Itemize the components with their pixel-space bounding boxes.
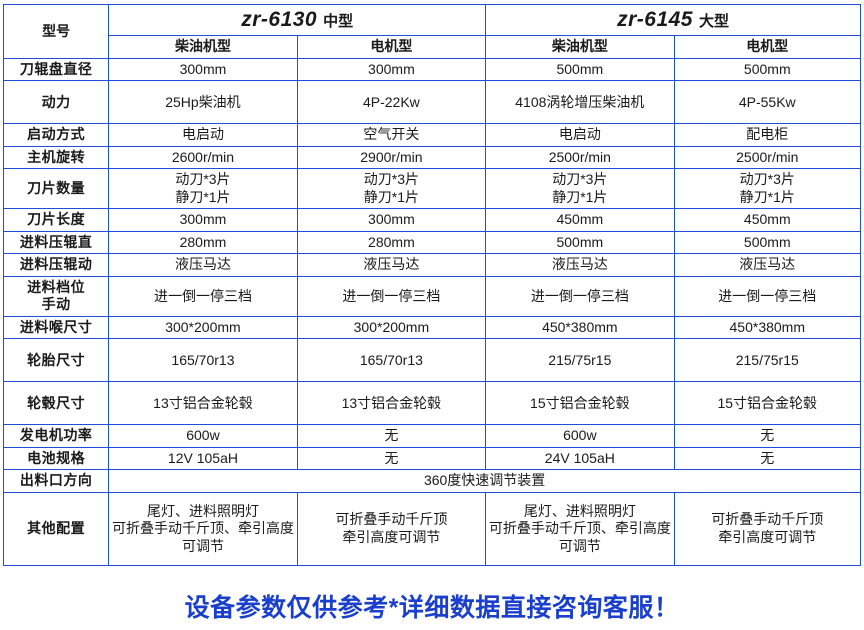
row-cell: 进一倒一停三档 xyxy=(486,276,674,316)
row-cell: 4P-55Kw xyxy=(674,81,860,124)
row-cell: 2500r/min xyxy=(674,146,860,169)
row-label: 进料喉尺寸 xyxy=(4,316,109,339)
model-header-1: zr-6130中型 xyxy=(109,5,486,36)
row-cell: 13寸铝合金轮毂 xyxy=(109,382,297,425)
spec-sheet: 型号 zr-6130中型 zr-6145大型 柴油机型 电机型 柴油机型 电机型… xyxy=(0,4,864,630)
row-cell: 300mm xyxy=(297,58,485,81)
row-cell: 进一倒一停三档 xyxy=(674,276,860,316)
row-cell: 450mm xyxy=(486,209,674,232)
row-cell: 尾灯、进料照明灯可折叠手动千斤顶、牵引高度可调节 xyxy=(109,492,297,565)
row-cell: 25Hp柴油机 xyxy=(109,81,297,124)
row-cell: 4P-22Kw xyxy=(297,81,485,124)
row-cell: 12V 105aH xyxy=(109,447,297,470)
table-row: 刀片长度 300mm 300mm 450mm 450mm xyxy=(4,209,861,232)
table-row-outlet: 出料口方向 360度快速调节装置 xyxy=(4,470,861,493)
row-cell: 24V 105aH xyxy=(486,447,674,470)
row-label: 轮胎尺寸 xyxy=(4,339,109,382)
row-label: 进料压辊动 xyxy=(4,254,109,277)
row-cell: 300mm xyxy=(297,209,485,232)
row-label: 刀片长度 xyxy=(4,209,109,232)
row-cell: 电启动 xyxy=(486,124,674,147)
row-cell: 动刀*3片静刀*1片 xyxy=(109,169,297,209)
row-label: 轮毂尺寸 xyxy=(4,382,109,425)
row-cell: 空气开关 xyxy=(297,124,485,147)
row-cell: 无 xyxy=(674,447,860,470)
row-cell: 300*200mm xyxy=(297,316,485,339)
row-cell: 500mm xyxy=(486,231,674,254)
row-cell: 2900r/min xyxy=(297,146,485,169)
row-label: 刀片数量 xyxy=(4,169,109,209)
table-row: 进料压辊直 280mm 280mm 500mm 500mm xyxy=(4,231,861,254)
table-row: 轮毂尺寸 13寸铝合金轮毂 13寸铝合金轮毂 15寸铝合金轮毂 15寸铝合金轮毂 xyxy=(4,382,861,425)
table-row: 刀片数量 动刀*3片静刀*1片 动刀*3片静刀*1片 动刀*3片静刀*1片 动刀… xyxy=(4,169,861,209)
row-cell: 500mm xyxy=(674,231,860,254)
row-cell: 配电柜 xyxy=(674,124,860,147)
corner-label: 型号 xyxy=(4,5,109,59)
row-cell: 液压马达 xyxy=(674,254,860,277)
row-cell: 500mm xyxy=(674,58,860,81)
row-cell: 450*380mm xyxy=(674,316,860,339)
table-row: 电池规格 12V 105aH 无 24V 105aH 无 xyxy=(4,447,861,470)
row-cell: 无 xyxy=(297,425,485,448)
row-cell: 无 xyxy=(674,425,860,448)
table-row: 主机旋转 2600r/min 2900r/min 2500r/min 2500r… xyxy=(4,146,861,169)
row-cell: 300*200mm xyxy=(109,316,297,339)
table-row: 刀辊盘直径 300mm 300mm 500mm 500mm xyxy=(4,58,861,81)
row-cell: 215/75r15 xyxy=(674,339,860,382)
row-cell: 2600r/min xyxy=(109,146,297,169)
model-code-1: zr-6130 xyxy=(241,8,317,31)
power-type-1: 柴油机型 xyxy=(109,36,297,59)
row-label: 进料压辊直 xyxy=(4,231,109,254)
row-cell: 可折叠手动千斤顶牵引高度可调节 xyxy=(674,492,860,565)
row-cell: 尾灯、进料照明灯可折叠手动千斤顶、牵引高度可调节 xyxy=(486,492,674,565)
row-cell: 300mm xyxy=(109,58,297,81)
row-label: 启动方式 xyxy=(4,124,109,147)
row-cell: 450mm xyxy=(674,209,860,232)
row-cell: 液压马达 xyxy=(297,254,485,277)
row-cell: 2500r/min xyxy=(486,146,674,169)
row-cell: 360度快速调节装置 xyxy=(109,470,861,493)
spec-table: 型号 zr-6130中型 zr-6145大型 柴油机型 电机型 柴油机型 电机型… xyxy=(3,4,861,566)
row-cell: 电启动 xyxy=(109,124,297,147)
row-cell: 450*380mm xyxy=(486,316,674,339)
row-cell: 动刀*3片静刀*1片 xyxy=(674,169,860,209)
row-label: 动力 xyxy=(4,81,109,124)
row-cell: 280mm xyxy=(297,231,485,254)
row-cell: 215/75r15 xyxy=(486,339,674,382)
row-cell: 4108涡轮增压柴油机 xyxy=(486,81,674,124)
row-cell: 165/70r13 xyxy=(297,339,485,382)
row-cell: 动刀*3片静刀*1片 xyxy=(486,169,674,209)
row-cell: 无 xyxy=(297,447,485,470)
row-cell: 165/70r13 xyxy=(109,339,297,382)
row-cell: 600w xyxy=(109,425,297,448)
table-row: 动力 25Hp柴油机 4P-22Kw 4108涡轮增压柴油机 4P-55Kw xyxy=(4,81,861,124)
power-type-4: 电机型 xyxy=(674,36,860,59)
row-label: 其他配置 xyxy=(4,492,109,565)
row-cell: 15寸铝合金轮毂 xyxy=(486,382,674,425)
table-row: 发电机功率 600w 无 600w 无 xyxy=(4,425,861,448)
row-cell: 动刀*3片静刀*1片 xyxy=(297,169,485,209)
row-label: 主机旋转 xyxy=(4,146,109,169)
table-row: 启动方式 电启动 空气开关 电启动 配电柜 xyxy=(4,124,861,147)
row-cell: 液压马达 xyxy=(486,254,674,277)
row-cell: 280mm xyxy=(109,231,297,254)
row-cell: 液压马达 xyxy=(109,254,297,277)
row-label: 电池规格 xyxy=(4,447,109,470)
table-row: 轮胎尺寸 165/70r13 165/70r13 215/75r15 215/7… xyxy=(4,339,861,382)
row-cell: 13寸铝合金轮毂 xyxy=(297,382,485,425)
table-row-power-type: 柴油机型 电机型 柴油机型 电机型 xyxy=(4,36,861,59)
row-cell: 进一倒一停三档 xyxy=(297,276,485,316)
table-row: 进料档位手动 进一倒一停三档 进一倒一停三档 进一倒一停三档 进一倒一停三档 xyxy=(4,276,861,316)
model-size-1: 中型 xyxy=(323,13,353,30)
row-cell: 600w xyxy=(486,425,674,448)
table-row: 进料喉尺寸 300*200mm 300*200mm 450*380mm 450*… xyxy=(4,316,861,339)
model-code-2: zr-6145 xyxy=(617,8,693,31)
row-cell: 500mm xyxy=(486,58,674,81)
row-label: 出料口方向 xyxy=(4,470,109,493)
row-cell: 15寸铝合金轮毂 xyxy=(674,382,860,425)
model-header-2: zr-6145大型 xyxy=(486,5,861,36)
footer-note: 设备参数仅供参考*详细数据直接咨询客服！ xyxy=(0,588,864,624)
power-type-2: 电机型 xyxy=(297,36,485,59)
power-type-3: 柴油机型 xyxy=(486,36,674,59)
row-label: 进料档位手动 xyxy=(4,276,109,316)
table-row-model-header: 型号 zr-6130中型 zr-6145大型 xyxy=(4,5,861,36)
row-cell: 进一倒一停三档 xyxy=(109,276,297,316)
table-row: 进料压辊动 液压马达 液压马达 液压马达 液压马达 xyxy=(4,254,861,277)
model-size-2: 大型 xyxy=(699,13,729,30)
row-cell: 300mm xyxy=(109,209,297,232)
row-label: 发电机功率 xyxy=(4,425,109,448)
table-row-other: 其他配置 尾灯、进料照明灯可折叠手动千斤顶、牵引高度可调节 可折叠手动千斤顶牵引… xyxy=(4,492,861,565)
row-cell: 可折叠手动千斤顶牵引高度可调节 xyxy=(297,492,485,565)
row-label: 刀辊盘直径 xyxy=(4,58,109,81)
